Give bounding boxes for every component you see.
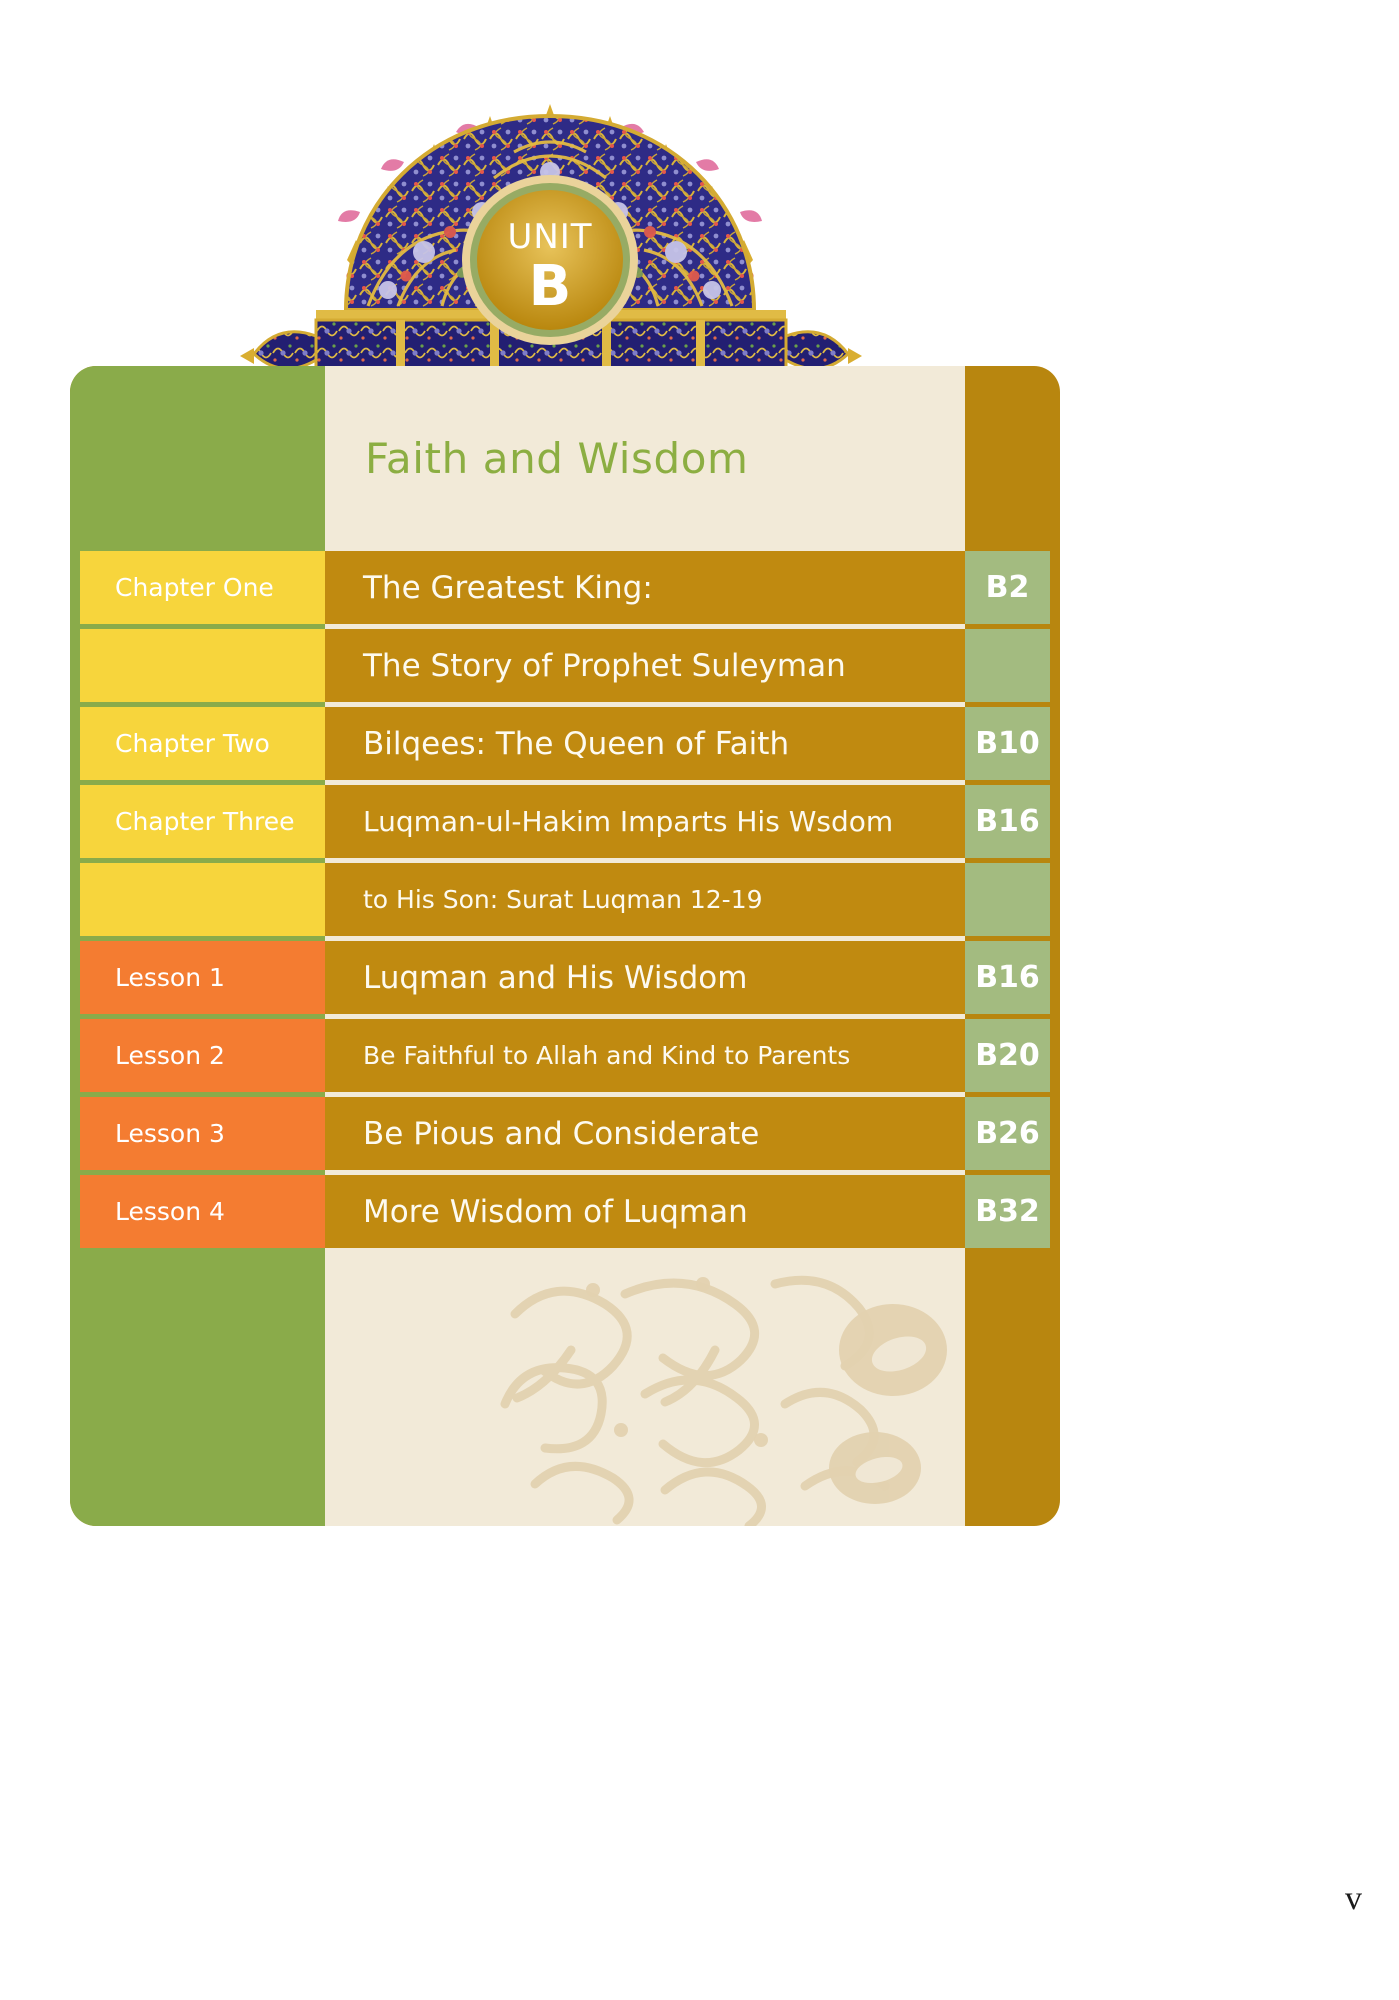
row-title-2[interactable]: The Story of Prophet Suleyman	[325, 629, 965, 702]
calligraphy-watermark-panel	[325, 1254, 965, 1526]
table-row: Chapter OneThe Greatest King:B2	[70, 551, 1060, 624]
row-label-2[interactable]	[80, 629, 325, 702]
row-label-9[interactable]: Lesson 4	[80, 1175, 325, 1248]
row-title-text: Bilqees: The Queen of Faith	[363, 726, 789, 762]
row-title-text: to His Son: Surat Luqman 12-19	[363, 885, 763, 914]
arabic-calligraphy-watermark-icon	[475, 1254, 965, 1526]
row-label-6[interactable]: Lesson 1	[80, 941, 325, 1014]
row-title-5[interactable]: to His Son: Surat Luqman 12-19	[325, 863, 965, 936]
row-page-number-6[interactable]: B16	[965, 941, 1050, 1014]
unit-label: UNIT	[507, 217, 592, 257]
row-label-1[interactable]: Chapter One	[80, 551, 325, 624]
unit-medallion: UNIT B	[462, 175, 638, 345]
row-title-9[interactable]: More Wisdom of Luqman	[325, 1175, 965, 1248]
row-title-text: The Greatest King:	[363, 570, 653, 606]
table-row: to His Son: Surat Luqman 12-19	[70, 863, 1060, 936]
table-row: Chapter TwoBilqees: The Queen of FaithB1…	[70, 707, 1060, 780]
row-label-4[interactable]: Chapter Three	[80, 785, 325, 858]
row-title-text: Luqman and His Wisdom	[363, 960, 747, 996]
row-page-number-3[interactable]: B10	[965, 707, 1050, 780]
row-title-6[interactable]: Luqman and His Wisdom	[325, 941, 965, 1014]
row-page-number-7[interactable]: B20	[965, 1019, 1050, 1092]
row-title-3[interactable]: Bilqees: The Queen of Faith	[325, 707, 965, 780]
table-row: The Story of Prophet Suleyman	[70, 629, 1060, 702]
table-row: Lesson 3Be Pious and ConsiderateB26	[70, 1097, 1060, 1170]
row-label-3[interactable]: Chapter Two	[80, 707, 325, 780]
page-title: Faith and Wisdom	[365, 434, 749, 483]
row-page-number-9[interactable]: B32	[965, 1175, 1050, 1248]
row-title-1[interactable]: The Greatest King:	[325, 551, 965, 624]
unit-letter: B	[529, 254, 572, 319]
row-page-number-5[interactable]	[965, 863, 1050, 936]
row-title-4[interactable]: Luqman-ul-Hakim Imparts His Wsdom	[325, 785, 965, 858]
unit-title-block: Faith and Wisdom	[325, 366, 965, 551]
row-label-8[interactable]: Lesson 3	[80, 1097, 325, 1170]
contents-row-list: Chapter OneThe Greatest King:B2The Story…	[70, 551, 1060, 1253]
row-title-text: Be Faithful to Allah and Kind to Parents	[363, 1041, 850, 1070]
row-title-8[interactable]: Be Pious and Considerate	[325, 1097, 965, 1170]
unit-contents-card: Faith and Wisdom Chapter OneThe Greatest…	[70, 366, 1060, 1526]
row-title-7[interactable]: Be Faithful to Allah and Kind to Parents	[325, 1019, 965, 1092]
row-title-text: Be Pious and Considerate	[363, 1116, 759, 1152]
row-label-5[interactable]	[80, 863, 325, 936]
table-row: Chapter ThreeLuqman-ul-Hakim Imparts His…	[70, 785, 1060, 858]
row-page-number-1[interactable]: B2	[965, 551, 1050, 624]
row-title-text: Luqman-ul-Hakim Imparts His Wsdom	[363, 805, 893, 838]
table-row: Lesson 2Be Faithful to Allah and Kind to…	[70, 1019, 1060, 1092]
row-page-number-8[interactable]: B26	[965, 1097, 1050, 1170]
page-number-marker: v	[1345, 1880, 1362, 1918]
table-row: Lesson 4More Wisdom of LuqmanB32	[70, 1175, 1060, 1248]
row-title-text: More Wisdom of Luqman	[363, 1194, 748, 1230]
unit-ornament-header: UNIT B	[228, 100, 873, 400]
row-page-number-2[interactable]	[965, 629, 1050, 702]
row-page-number-4[interactable]: B16	[965, 785, 1050, 858]
row-label-7[interactable]: Lesson 2	[80, 1019, 325, 1092]
table-row: Lesson 1Luqman and His WisdomB16	[70, 941, 1060, 1014]
row-title-text: The Story of Prophet Suleyman	[363, 648, 846, 684]
